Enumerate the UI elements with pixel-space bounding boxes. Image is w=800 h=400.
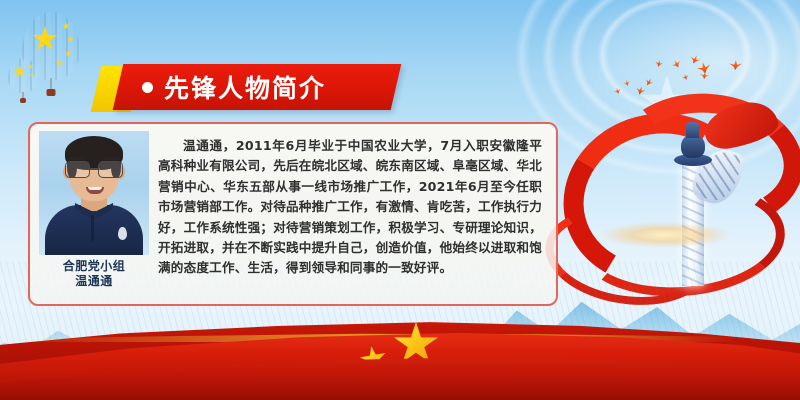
bird-icon [700, 71, 710, 79]
bullet-dot-icon [142, 82, 153, 93]
biography-column: 温通通，2011年6月毕业于中国农业大学，7月入职安徽隆平高科种业有限公司，先后… [150, 124, 556, 289]
biography-text: 温通通，2011年6月毕业于中国农业大学，7月入职安徽隆平高科种业有限公司，先后… [158, 136, 542, 279]
profile-card: 合肥党小组 温通通 温通通，2011年6月毕业于中国农业大学，7月入职安徽隆平高… [28, 122, 558, 306]
caption-name: 温通通 [63, 274, 126, 289]
photo-column: 合肥党小组 温通通 [30, 124, 150, 289]
page-title: 先锋人物简介 [164, 69, 326, 105]
bird-icon [624, 80, 631, 87]
photo-caption: 合肥党小组 温通通 [63, 259, 126, 289]
bird-icon [729, 60, 743, 71]
poster-canvas: 先锋人物简介 合肥党小组 [0, 0, 800, 400]
eyeglasses-icon [65, 161, 123, 177]
portrait-photo [39, 131, 149, 255]
caption-group: 合肥党小组 [63, 259, 126, 274]
hot-air-balloon-small-icon [8, 58, 38, 93]
